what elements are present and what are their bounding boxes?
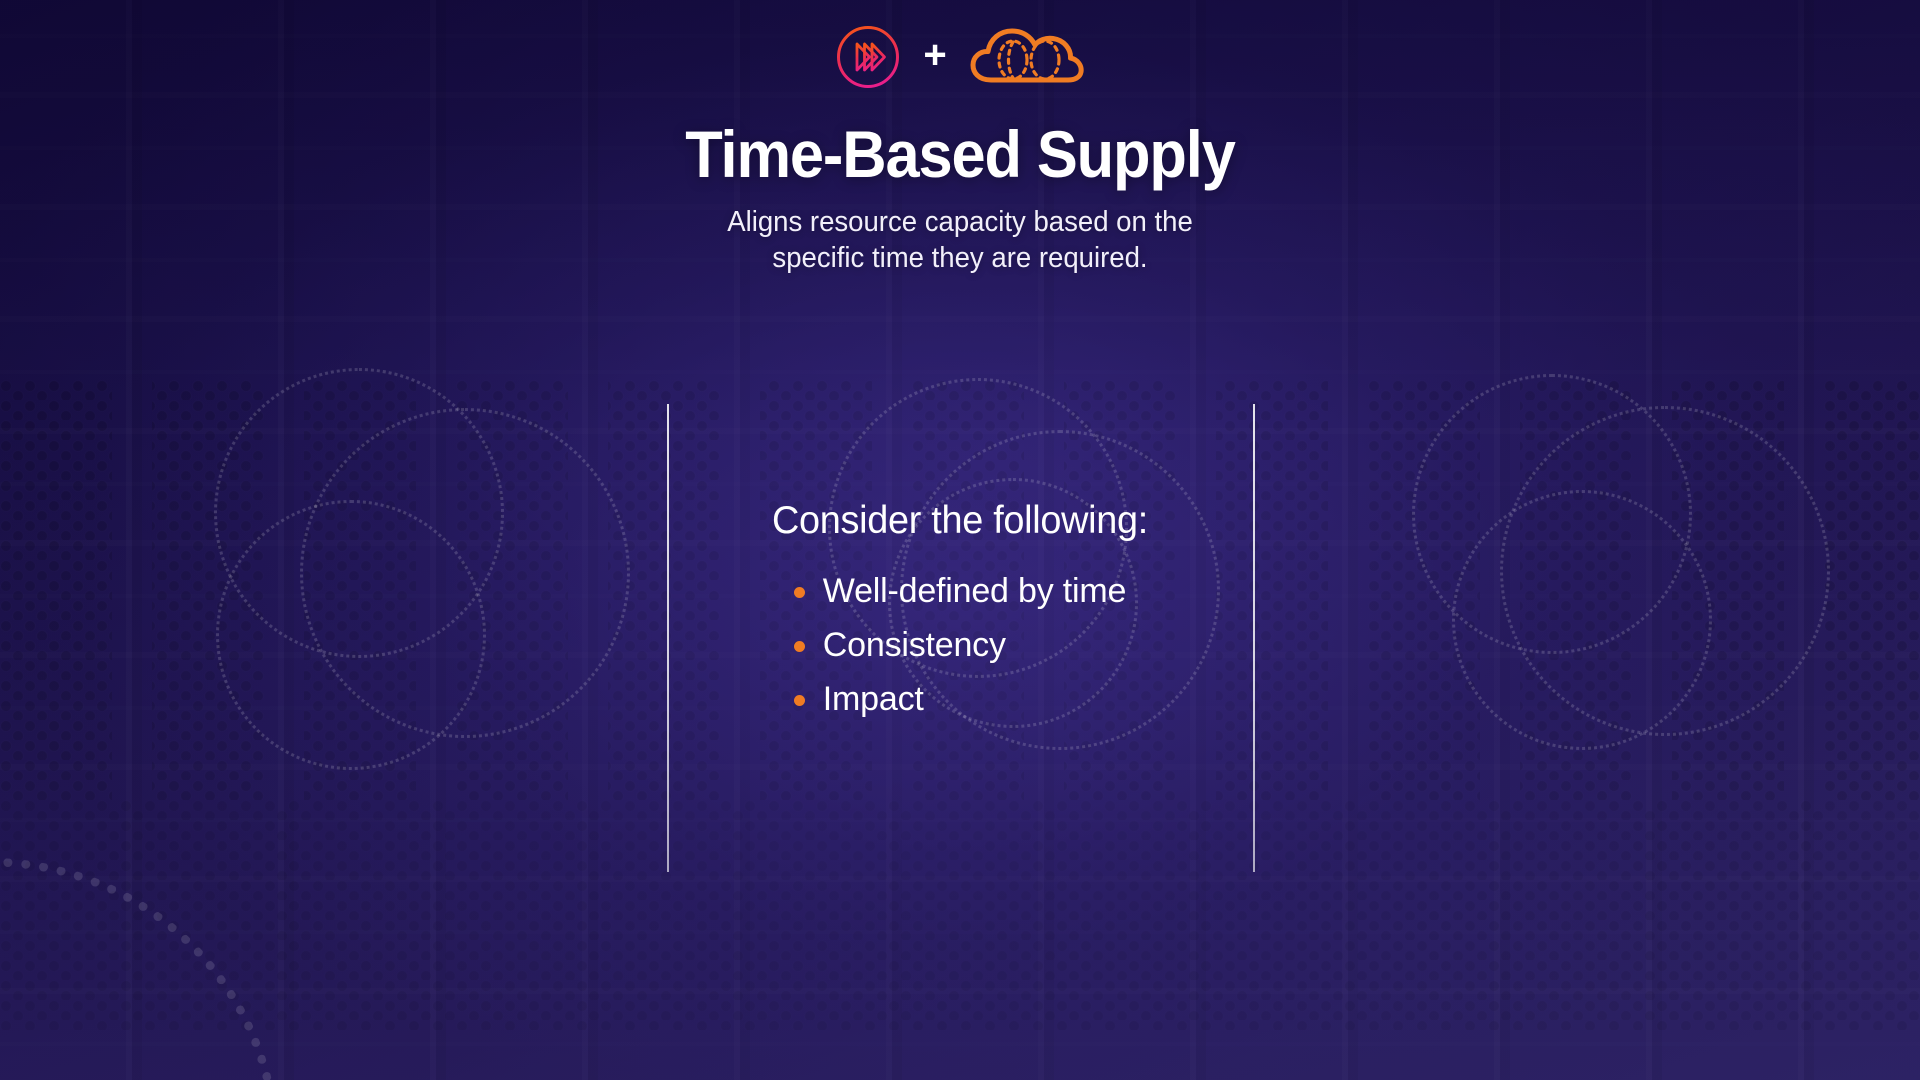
list-item-label: Consistency bbox=[823, 625, 1006, 665]
consideration-list: Well-defined by time Consistency Impact bbox=[794, 571, 1126, 733]
bullet-dot-icon bbox=[794, 641, 805, 652]
dotted-circle-right-3 bbox=[1452, 490, 1712, 750]
body-heading: Consider the following: bbox=[676, 500, 1244, 543]
list-item: Consistency bbox=[794, 625, 1126, 665]
logo-lockup: + bbox=[0, 24, 1920, 90]
subtitle-line-2: specific time they are required. bbox=[48, 241, 1872, 276]
list-item: Well-defined by time bbox=[794, 571, 1126, 611]
presentation-slide: + Time-Based Supply Aligns resource capa… bbox=[0, 0, 1920, 1080]
body-block: Consider the following: Well-defined by … bbox=[667, 500, 1253, 733]
list-item: Impact bbox=[794, 679, 1126, 719]
title-block: Time-Based Supply Aligns resource capaci… bbox=[0, 120, 1920, 276]
list-item-label: Impact bbox=[823, 679, 924, 719]
list-item-label: Well-defined by time bbox=[823, 571, 1126, 611]
subtitle-line-1: Aligns resource capacity based on the bbox=[48, 205, 1872, 240]
page-title: Time-Based Supply bbox=[67, 120, 1853, 189]
divider-line-right bbox=[1253, 404, 1255, 872]
bullet-dot-icon bbox=[794, 587, 805, 598]
page-subtitle: Aligns resource capacity based on the sp… bbox=[48, 205, 1872, 276]
plus-icon: + bbox=[923, 35, 946, 79]
cloud-logo bbox=[969, 24, 1085, 90]
bullet-dot-icon bbox=[794, 695, 805, 706]
play-button-logo bbox=[835, 24, 901, 90]
dotted-circle-left-3 bbox=[216, 500, 486, 770]
